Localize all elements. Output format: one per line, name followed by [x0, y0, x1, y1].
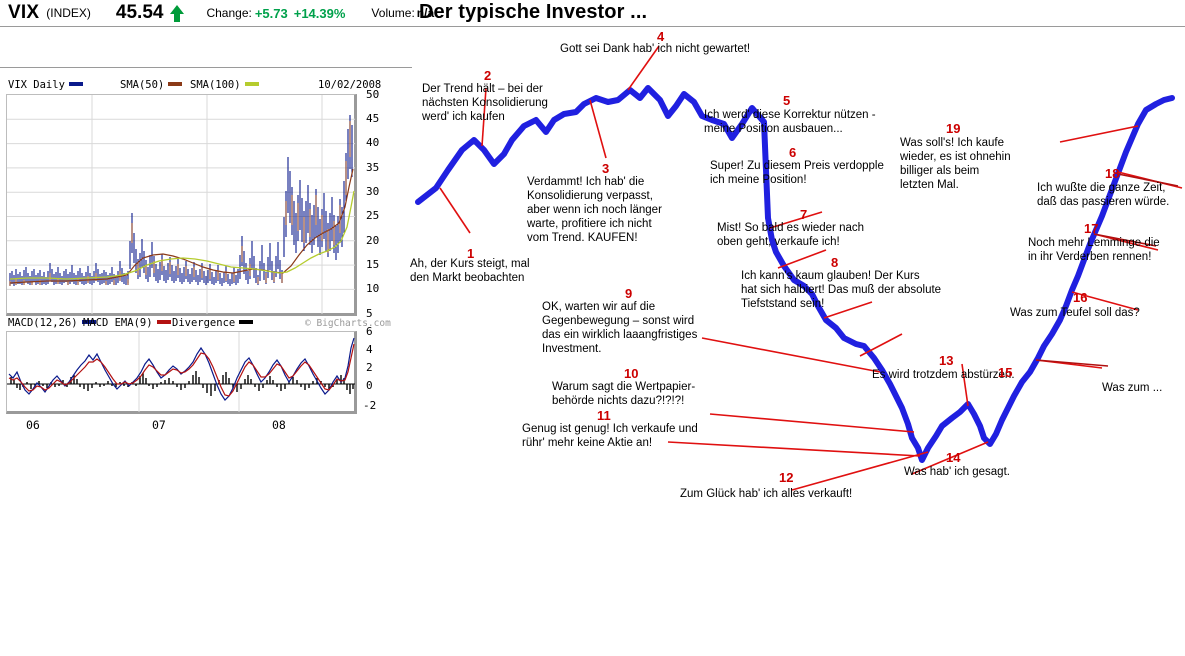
legend-label-macd-ema: MACD EMA(9): [83, 317, 153, 329]
change-percent: +14.39%: [294, 6, 346, 21]
annotation-text-9: OK, warten wir auf die Gegenbewegung – s…: [542, 300, 732, 356]
legend-swatch-vix-daily: [69, 82, 83, 86]
annotation-number-12: 12: [779, 470, 793, 485]
bigcharts-watermark: © BigCharts.com: [305, 318, 391, 329]
legend-label-divergence: Divergence: [172, 317, 235, 329]
annotation-number-15: 15: [998, 365, 1012, 380]
annotation-text-3: Verdammt! Ich hab' die Konsolidierung ve…: [527, 175, 727, 245]
page-title: Der typische Investor ...: [419, 1, 647, 24]
quote-inner: VIX (INDEX) 45.54 Change: +5.73 +14.39% …: [8, 0, 434, 26]
annotation-number-11: 11: [597, 408, 611, 423]
annotation-number-17: 17: [1084, 221, 1098, 236]
legend-label-sma100: SMA(100): [190, 79, 241, 91]
annotation-text-4: Gott sei Dank hab' ich nicht gewartet!: [560, 42, 840, 56]
annotation-text-19: Was soll's! Ich kaufe wieder, es ist ohn…: [900, 136, 1060, 192]
legend-label-macd: MACD(12,26): [8, 317, 78, 329]
annotation-number-2: 2: [484, 68, 491, 83]
up-arrow-icon: [170, 5, 184, 22]
ytick: 20: [366, 234, 379, 247]
xtick: 07: [152, 418, 166, 432]
legend-label-sma50: SMA(50): [120, 79, 164, 91]
macd-legend-ema: MACD EMA(9): [83, 317, 175, 329]
annotation-number-8: 8: [831, 255, 838, 270]
ytick: 30: [366, 185, 379, 198]
legend-swatch-macd-ema: [157, 320, 171, 324]
change-value: +5.73: [255, 6, 288, 21]
xtick: 08: [272, 418, 286, 432]
annotation-text-11: Genug ist genug! Ich verkaufe und rühr' …: [522, 422, 722, 450]
xtick: 06: [26, 418, 40, 432]
annotation-number-19: 19: [946, 121, 960, 136]
legend-swatch-sma50: [168, 82, 182, 86]
annotation-number-14: 14: [946, 450, 960, 465]
annotation-text-12: Zum Glück hab' ich alles verkauft!: [680, 487, 940, 501]
ytick: 10: [366, 282, 379, 295]
annotation-text-13: Es wird trotzdem abstürzen.: [872, 368, 1092, 382]
index-label: (INDEX): [46, 6, 91, 20]
annotation-text-16: Was zum Teufel soll das?: [1010, 306, 1185, 320]
annotation-text-14: Was hab' ich gesagt.: [904, 465, 1094, 479]
ytick: 0: [366, 379, 373, 392]
ytick: 15: [366, 258, 379, 271]
annotation-number-6: 6: [789, 145, 796, 160]
annotation-number-3: 3: [602, 161, 609, 176]
annotation-text-8: Ich kann's kaum glauben! Der Kurs hat si…: [741, 269, 1031, 311]
ytick: 25: [366, 209, 379, 222]
macd-legend-divergence: Divergence: [172, 317, 257, 329]
ytick: 45: [366, 112, 379, 125]
price-chart-svg: [7, 95, 355, 314]
ytick: 50: [366, 88, 379, 101]
volume-label: Volume:: [371, 6, 414, 20]
annotation-text-2: Der Trend hält – bei der nächsten Konsol…: [422, 82, 612, 124]
change-label: Change:: [206, 6, 251, 20]
last-price: 45.54: [116, 2, 164, 24]
macd-chart-svg: [7, 332, 355, 412]
annotation-number-16: 16: [1073, 290, 1087, 305]
investor-cycle-cartoon: 1 Ah, der Kurs steigt, mal den Markt beo…: [412, 28, 1185, 656]
ytick: 40: [366, 136, 379, 149]
annotation-text-10: Warum sagt die Wertpapier- behörde nicht…: [552, 380, 732, 408]
annotation-number-18: 18: [1105, 166, 1119, 181]
annotation-text-7: Mist! So bald es wieder nach oben geht, …: [717, 221, 957, 249]
ytick: 4: [366, 343, 373, 356]
annotation-text-15: Was zum ...: [1102, 381, 1185, 395]
annotation-number-13: 13: [939, 353, 953, 368]
price-chart-legend-sma50: SMA(50): [120, 79, 186, 91]
price-chart-legend-sma100: SMA(100): [190, 79, 263, 91]
annotation-number-5: 5: [783, 93, 790, 108]
legend-swatch-divergence: [239, 320, 253, 324]
legend-label-vix-daily: VIX Daily: [8, 79, 65, 91]
ytick: 2: [366, 361, 373, 374]
ytick: 6: [366, 325, 373, 338]
legend-swatch-sma100: [245, 82, 259, 86]
annotation-text-5: Ich werd' diese Korrektur nützen - meine…: [704, 108, 954, 136]
annotation-number-9: 9: [625, 286, 632, 301]
price-chart-legend: VIX Daily: [8, 79, 87, 91]
bigcharts-widget: VIX Daily SMA(50) SMA(100) 10/02/2008: [0, 68, 412, 440]
annotation-text-17: Noch mehr Lemminge die in ihr Verderben …: [1028, 236, 1185, 264]
annotation-number-10: 10: [624, 366, 638, 381]
annotation-text-1: Ah, der Kurs steigt, mal den Markt beoba…: [410, 257, 590, 285]
macd-chart-panel[interactable]: [6, 331, 357, 414]
ticker-symbol: VIX: [8, 2, 39, 24]
ytick: -2: [363, 399, 376, 412]
ytick: 35: [366, 161, 379, 174]
annotation-number-7: 7: [800, 207, 807, 222]
price-chart-panel[interactable]: [6, 94, 357, 316]
